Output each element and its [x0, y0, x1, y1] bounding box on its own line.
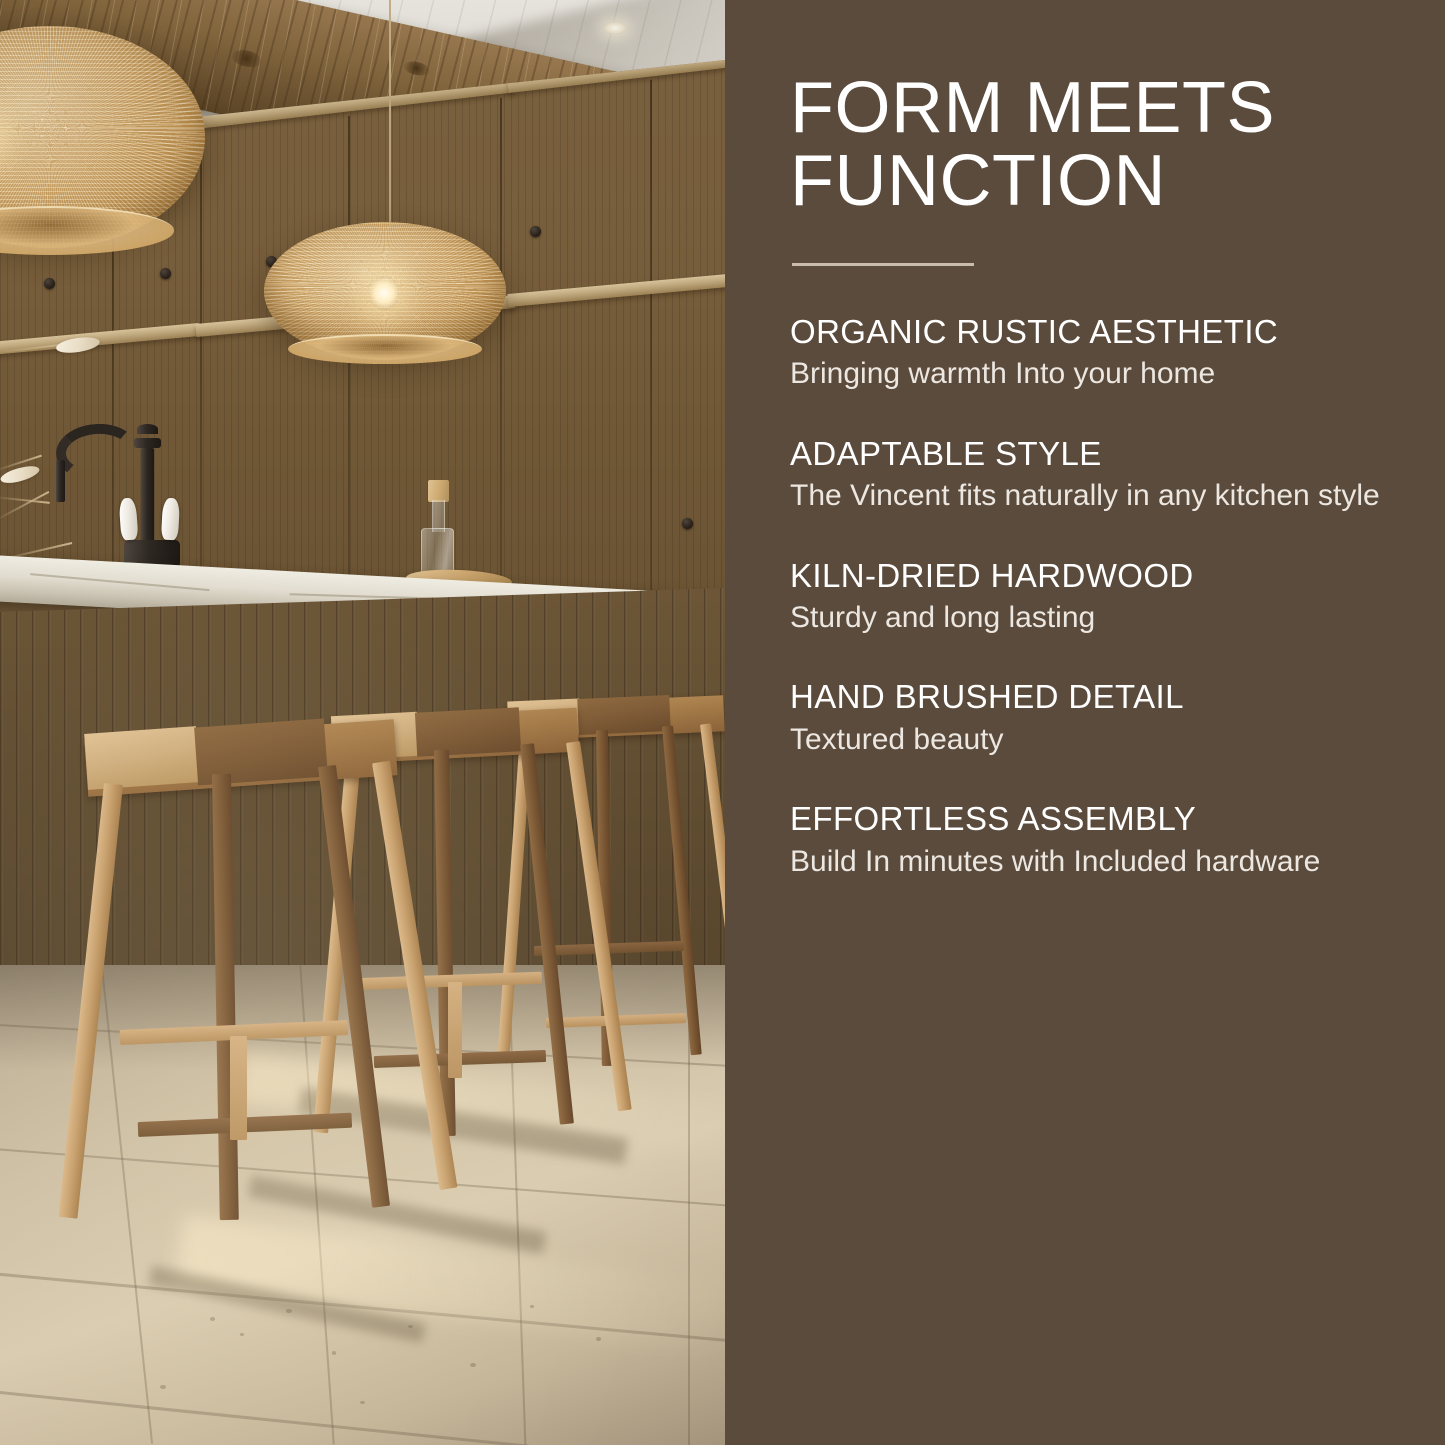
recessed-downlight-icon	[604, 22, 626, 34]
kitchen-bar-stool-photo	[0, 0, 725, 1445]
feature-title: ORGANIC RUSTIC AESTHETIC	[790, 312, 1381, 352]
feature-description: Build In minutes with Included hardware	[790, 842, 1381, 882]
feature-list: ORGANIC RUSTIC AESTHETIC Bringing warmth…	[790, 312, 1381, 881]
feature-description: The Vincent fits naturally in any kitche…	[790, 476, 1381, 516]
cabinet-knob-icon	[682, 518, 693, 529]
page-title: FORM MEETS FUNCTION	[790, 72, 1381, 219]
title-divider	[792, 263, 974, 266]
product-feature-infographic: FORM MEETS FUNCTION ORGANIC RUSTIC AESTH…	[0, 0, 1445, 1445]
feature-text-panel: FORM MEETS FUNCTION ORGANIC RUSTIC AESTH…	[725, 0, 1445, 1445]
cabinet-knob-icon	[160, 268, 171, 279]
feature-item-organic-rustic-aesthetic: ORGANIC RUSTIC AESTHETIC Bringing warmth…	[790, 312, 1381, 394]
feature-item-kiln-dried-hardwood: KILN-DRIED HARDWOOD Sturdy and long last…	[790, 556, 1381, 638]
feature-title: ADAPTABLE STYLE	[790, 434, 1381, 474]
feature-title: KILN-DRIED HARDWOOD	[790, 556, 1381, 596]
feature-title: HAND BRUSHED DETAIL	[790, 677, 1381, 717]
cabinet-knob-icon	[530, 226, 541, 237]
feature-item-hand-brushed-detail: HAND BRUSHED DETAIL Textured beauty	[790, 677, 1381, 759]
feature-item-effortless-assembly: EFFORTLESS ASSEMBLY Build In minutes wit…	[790, 799, 1381, 881]
faucet-handle-icon	[161, 498, 180, 541]
cabinet-knob-icon	[44, 278, 55, 289]
feature-description: Textured beauty	[790, 720, 1381, 760]
feature-item-adaptable-style: ADAPTABLE STYLE The Vincent fits natural…	[790, 434, 1381, 516]
feature-description: Bringing warmth Into your home	[790, 354, 1381, 394]
feature-description: Sturdy and long lasting	[790, 598, 1381, 638]
feature-title: EFFORTLESS ASSEMBLY	[790, 799, 1381, 839]
